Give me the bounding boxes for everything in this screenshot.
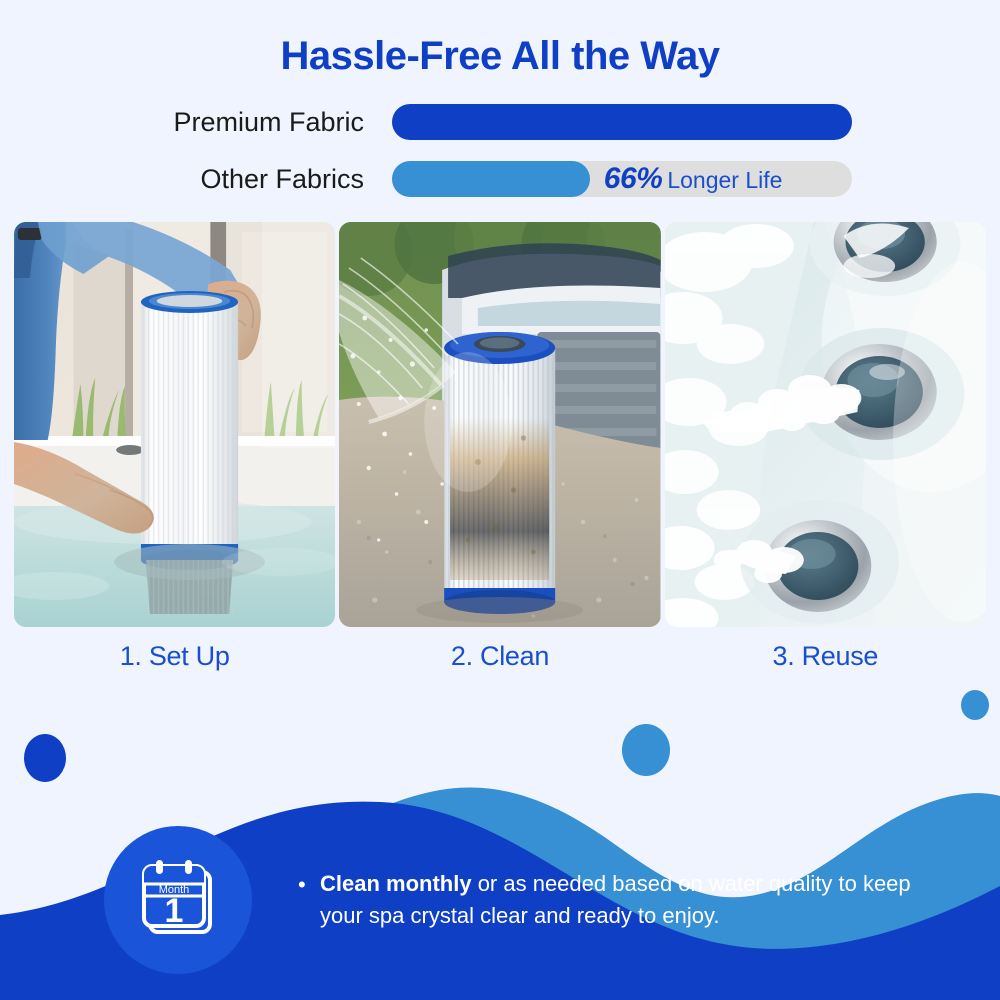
step-card-3: 3. Reuse	[665, 222, 986, 672]
photo-setup-filter-into-spa	[14, 222, 335, 627]
bar-label-other-fabrics: Other Fabrics	[140, 164, 392, 195]
bullet-point: •	[298, 869, 306, 901]
bubble-dark-left	[24, 734, 66, 782]
percent-caption: Longer Life	[667, 167, 782, 194]
bar-fill-other	[392, 161, 590, 197]
note-bold-text: Clean monthly	[320, 871, 472, 896]
calendar-day-number: 1	[165, 892, 184, 930]
photo-reuse-spa-jets-bubbling	[665, 222, 986, 627]
calendar-month-1-icon: Month 1	[130, 852, 226, 948]
step-caption-2: 2. Clean	[339, 641, 660, 672]
step-card-1: 1. Set Up	[14, 222, 335, 672]
photo-clean-rinsing-filter	[339, 222, 660, 627]
comparison-row-other: Other Fabrics 66% Longer Life	[140, 159, 852, 199]
monthly-cleaning-note: Month 1 •Clean monthly or as needed base…	[0, 800, 1000, 1000]
calendar-icon-circle: Month 1	[104, 826, 252, 974]
bar-label-premium-fabric: Premium Fabric	[140, 107, 392, 138]
note-text: •Clean monthly or as needed based on wat…	[298, 868, 958, 932]
percent-value: 66%	[604, 162, 663, 196]
page-title: Hassle-Free All the Way	[0, 0, 1000, 78]
bubble-light-right	[961, 690, 989, 720]
step-caption-1: 1. Set Up	[14, 641, 335, 672]
bar-fill-premium	[392, 104, 852, 140]
step-caption-3: 3. Reuse	[665, 641, 986, 672]
bar-track-other: 66% Longer Life	[392, 161, 852, 197]
bar-track-premium	[392, 104, 852, 140]
step-photos: 1. Set Up	[0, 222, 1000, 672]
longer-life-annotation: 66% Longer Life	[604, 162, 783, 196]
comparison-row-premium: Premium Fabric	[140, 102, 852, 142]
bubble-light-mid	[622, 724, 670, 776]
comparison-bars: Premium Fabric Other Fabrics 66% Longer …	[0, 102, 1000, 199]
step-card-2: 2. Clean	[339, 222, 660, 672]
